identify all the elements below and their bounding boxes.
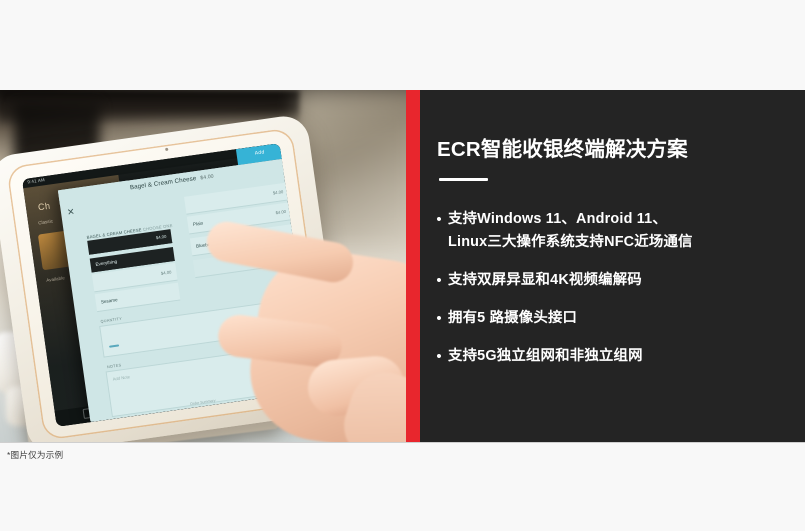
page-title: ECR智能收银终端解决方案 <box>437 132 688 162</box>
pos-option-price: $4.00 <box>156 234 167 240</box>
list-item-text: 支持Windows 11、Android 11、 Linux三大操作系统支持NF… <box>448 208 805 254</box>
list-item: • 拥有5 路摄像头接口 <box>420 307 805 330</box>
list-item-line-1: 支持Windows 11、Android 11、 <box>448 211 667 227</box>
bullet-marker-icon: • <box>430 345 448 368</box>
tablet-camera-icon <box>165 148 169 152</box>
pos-option-price: $4.00 <box>161 269 172 275</box>
pos-left-subtitle-2: Available <box>46 275 65 283</box>
pos-option-price: $4.00 <box>272 189 283 195</box>
slide-root: 9:41 AM Ch Classic Available <box>0 0 805 530</box>
pos-left-title: Ch <box>37 201 51 213</box>
list-item-line-2: Linux三大操作系统支持NFC近场通信 <box>448 231 803 254</box>
hand-pointing <box>196 208 406 442</box>
list-item-text: 拥有5 路摄像头接口 <box>448 307 805 330</box>
bullet-marker-icon: • <box>430 307 448 330</box>
top-white-band <box>0 0 805 90</box>
list-item-text: 支持双屏异显和4K视频编解码 <box>448 269 805 292</box>
pos-notes-label: NOTES <box>107 363 122 369</box>
footer-band: *图片仅为示例 <box>0 442 805 531</box>
list-item-text: 支持5G独立组网和非独立组网 <box>448 345 805 368</box>
pos-quantity-minus-icon[interactable] <box>109 344 119 347</box>
pos-left-subtitle: Classic <box>38 218 53 225</box>
title-underline <box>439 178 488 181</box>
content-band: 9:41 AM Ch Classic Available <box>0 90 805 442</box>
pos-option-name: Everything <box>95 259 117 267</box>
pos-option-name: Sesame <box>100 297 117 304</box>
list-item: • 支持双屏异显和4K视频编解码 <box>420 269 805 292</box>
list-item: • 支持Windows 11、Android 11、 Linux三大操作系统支持… <box>420 208 805 254</box>
bullet-list: • 支持Windows 11、Android 11、 Linux三大操作系统支持… <box>420 208 805 383</box>
red-accent-divider <box>406 90 420 442</box>
tablet-pos-photo: 9:41 AM Ch Classic Available <box>0 90 406 442</box>
pos-notes-placeholder: Add Note <box>112 374 130 381</box>
dark-text-panel: ECR智能收银终端解决方案 • 支持Windows 11、Android 11、… <box>420 90 805 442</box>
footnote-text: *图片仅为示例 <box>7 449 63 461</box>
list-item: • 支持5G独立组网和非独立组网 <box>420 345 805 368</box>
pos-modal-price: $4.00 <box>200 174 214 182</box>
bullet-marker-icon: • <box>430 269 448 292</box>
pos-add-button-label: Add <box>254 149 265 156</box>
pos-close-icon[interactable]: ✕ <box>66 207 76 217</box>
pos-status-time: 9:41 AM <box>27 177 45 184</box>
bullet-marker-icon: • <box>430 208 448 231</box>
